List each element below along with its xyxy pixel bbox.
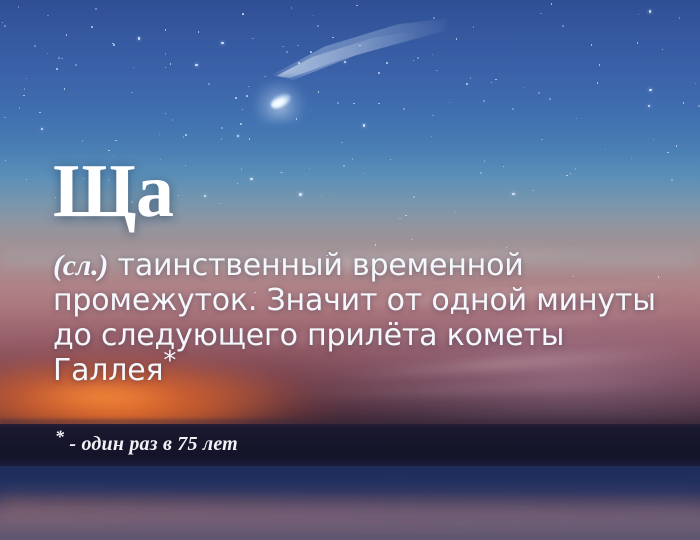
definition-body: таинственный временной промежуток. Значи… [53,248,656,388]
footnote: * - один раз в 75 лет [55,430,238,458]
quote-card: Ща (сл.) таинственный временной промежут… [0,0,700,540]
footnote-marker-star: * [55,426,64,446]
footnote-text: - один раз в 75 лет [64,433,238,455]
headline-word: Ща [53,148,173,234]
water-surface [0,466,700,540]
definition-text: (сл.) таинственный временной промежуток.… [53,248,685,388]
definition-abbreviation: (сл.) [53,249,108,282]
footnote-marker: * [163,346,176,376]
comet-tail-inner [276,30,416,78]
